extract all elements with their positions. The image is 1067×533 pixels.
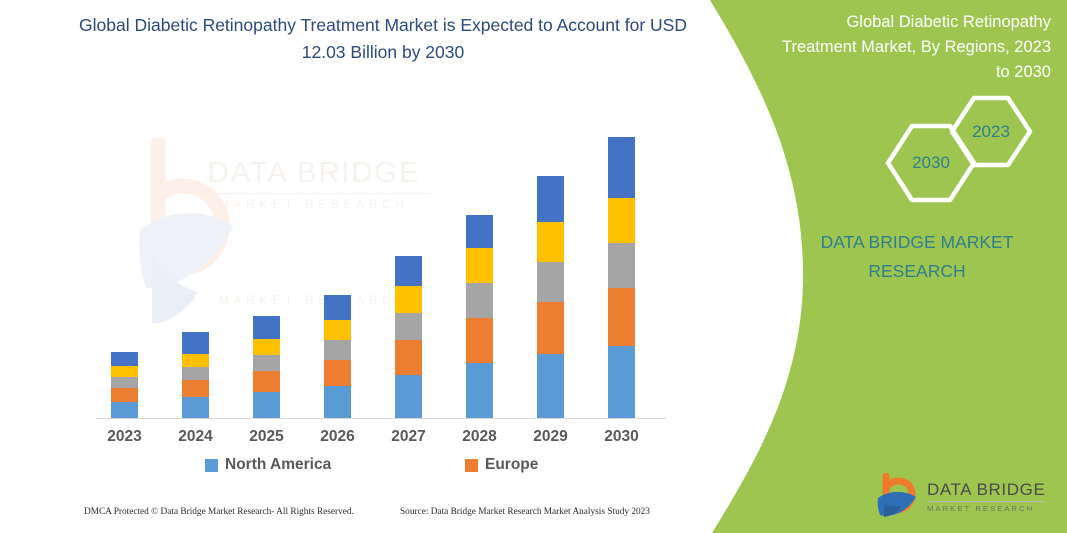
x-axis-label-2028: 2028 [445,428,515,446]
logo-primary-text: DATA BRIDGE [927,480,1045,499]
bar-segment [111,352,138,366]
hexagon-badge-2030: 2030 [885,123,977,203]
side-panel-title: Global Diabetic Retinopathy Treatment Ma… [781,10,1051,85]
logo-secondary-text: MARKET RESEARCH [927,504,1045,514]
legend-item-europe[interactable]: Europe [465,456,538,474]
bar-segment [537,302,564,354]
bar-segment [324,360,351,386]
bar-segment [182,354,209,367]
legend-swatch-icon [205,459,218,472]
bar-segment [253,392,280,418]
bar-segment [608,137,635,198]
bar-segment [324,320,351,340]
bar-segment [466,363,493,418]
bar-group [0,0,710,460]
brand-logo: DATA BRIDGE MARKET RESEARCH [875,470,1055,522]
hexagon-badges: 2023 2030 [863,95,1063,205]
bar-segment [537,176,564,222]
bar-2029 [537,176,564,418]
bar-segment [395,313,422,340]
side-panel: Global Diabetic Retinopathy Treatment Ma… [767,0,1067,533]
legend-label: North America [225,456,331,474]
bar-segment [395,340,422,375]
bar-segment [253,316,280,339]
bar-segment [608,198,635,243]
bar-segment [608,346,635,418]
bar-2023 [111,352,138,418]
bar-segment [537,354,564,418]
bar-segment [466,215,493,248]
bar-segment [608,243,635,288]
x-axis-line [96,418,666,419]
bar-segment [182,332,209,354]
x-axis-label-2026: 2026 [303,428,373,446]
bar-segment [182,380,209,397]
bar-2028 [466,215,493,418]
bar-segment [608,288,635,346]
footer: DMCA Protected © Data Bridge Market Rese… [0,507,700,527]
bar-2024 [182,332,209,418]
hexagon-badge-2030-label: 2030 [912,153,950,173]
bar-segment [395,375,422,418]
hexagon-badge-2023-label: 2023 [972,122,1010,142]
bar-segment [537,222,564,262]
footer-copyright: DMCA Protected © Data Bridge Market Rese… [84,507,354,517]
bar-segment [111,402,138,418]
logo-wordmark: DATA BRIDGE MARKET RESEARCH [927,478,1045,514]
bar-segment [466,283,493,318]
bar-2027 [395,256,422,418]
bar-segment [324,295,351,320]
bar-segment [111,377,138,388]
bar-segment [182,367,209,380]
chart-plot-area: DATA BRIDGE MARKET RESEARCH MARKET RESEA… [0,0,710,460]
logo-divider [927,501,1045,502]
bar-segment [324,340,351,360]
legend-swatch-icon [465,459,478,472]
bar-2025 [253,316,280,418]
bar-segment [466,318,493,363]
legend-label: Europe [485,456,538,474]
data-bridge-logo-icon [875,473,921,519]
bar-segment [466,248,493,283]
bar-segment [111,388,138,402]
x-axis-label-2027: 2027 [374,428,444,446]
side-panel-brand: DATA BRIDGE MARKET RESEARCH [787,228,1047,286]
bar-segment [253,355,280,371]
x-axis-label-2023: 2023 [90,428,160,446]
bar-segment [253,371,280,392]
bar-segment [111,366,138,377]
bar-segment [253,339,280,355]
x-axis-labels: 20232024202520262027202820292030 [0,428,710,454]
x-axis-label-2029: 2029 [516,428,586,446]
chart-legend: North AmericaEurope [0,456,710,482]
legend-item-north-america[interactable]: North America [205,456,331,474]
x-axis-label-2025: 2025 [232,428,302,446]
bar-segment [182,397,209,418]
bar-segment [537,262,564,302]
infographic-root: Global Diabetic Retinopathy Treatment Ma… [0,0,1067,533]
bar-2026 [324,295,351,418]
x-axis-label-2024: 2024 [161,428,231,446]
x-axis-label-2030: 2030 [587,428,657,446]
bar-2030 [608,137,635,418]
bar-segment [395,256,422,286]
bar-segment [324,386,351,418]
footer-source: Source: Data Bridge Market Research Mark… [400,507,650,517]
bar-segment [395,286,422,313]
